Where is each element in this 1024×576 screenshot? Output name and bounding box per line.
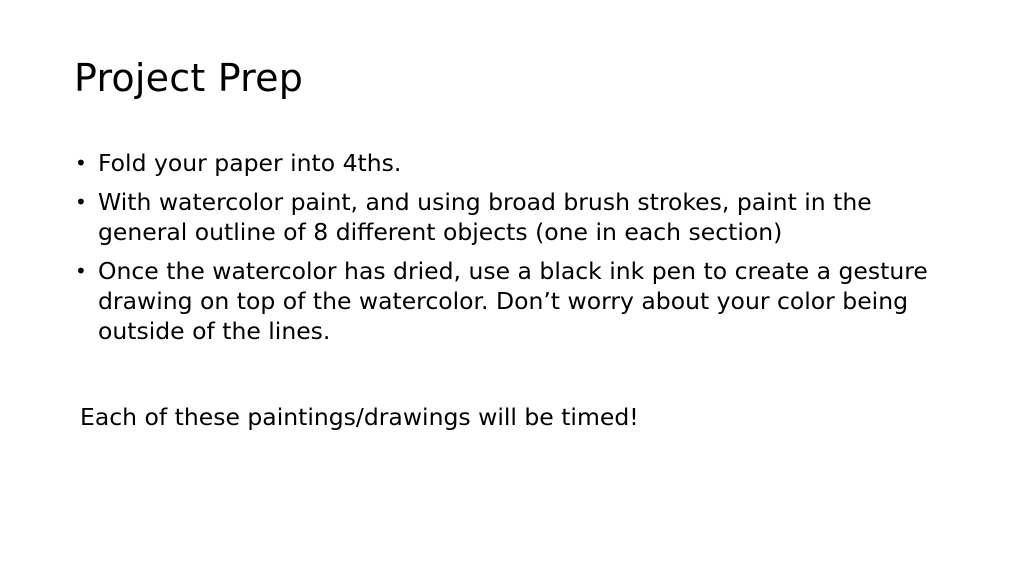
slide-body: Fold your paper into 4ths. With watercol… <box>72 148 962 432</box>
list-item: Once the watercolor has dried, use a bla… <box>72 256 962 346</box>
closing-statement: Each of these paintings/drawings will be… <box>72 402 962 432</box>
page-title: Project Prep <box>74 55 303 101</box>
list-item: With watercolor paint, and using broad b… <box>72 187 962 247</box>
slide: Project Prep Fold your paper into 4ths. … <box>0 0 1024 576</box>
bullet-list: Fold your paper into 4ths. With watercol… <box>72 148 962 346</box>
list-item: Fold your paper into 4ths. <box>72 148 962 178</box>
